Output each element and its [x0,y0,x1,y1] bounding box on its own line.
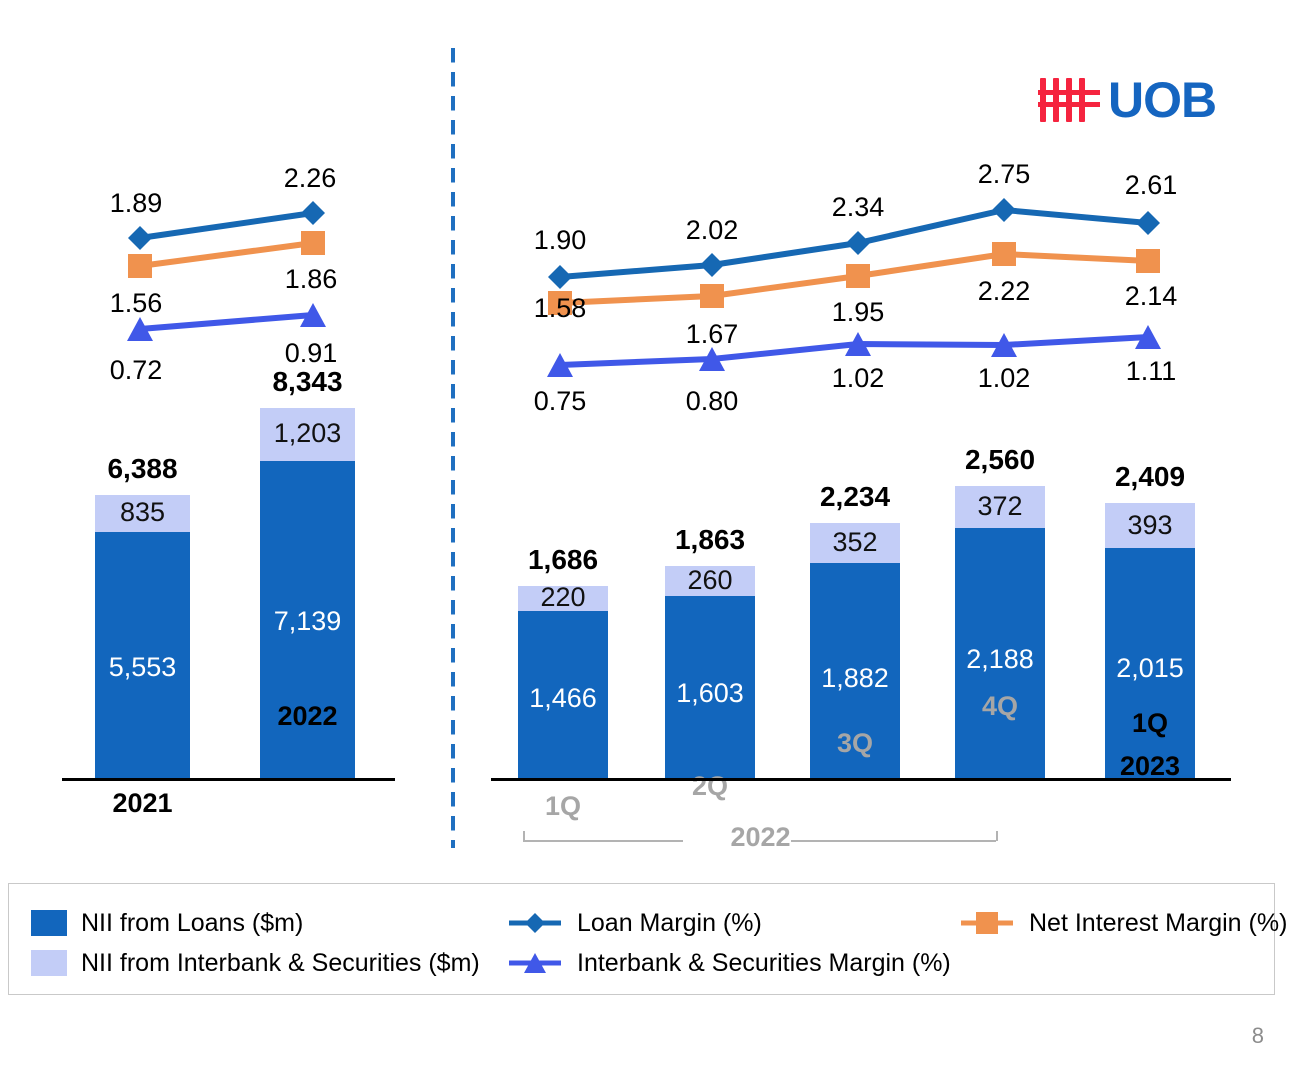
legend-item-nii-from-loans[interactable]: NII from Loans ($m) [31,906,303,940]
bar-segment-loans: 2,188 [955,528,1045,778]
quarterly-loan-margin-marker [1136,211,1160,235]
segment-value-label: 2,188 [966,644,1034,675]
annual-nim-label: 1.86 [285,264,338,295]
quarterly-x-axis [491,778,1231,781]
quarterly-nim-label: 1.58 [534,293,587,324]
annual-interbank-margin-label: 0.72 [110,355,163,386]
bar-segment-loans: 2,015 [1105,548,1195,778]
bar-segment-interbank: 352 [810,523,900,563]
legend-item-loan-margin[interactable]: Loan Margin (%) [507,906,762,940]
bar-total-label: 6,388 [107,453,177,485]
page-number: 8 [1252,1023,1264,1049]
year-bracket-2022: 2022 [523,822,998,856]
segment-value-label: 260 [687,565,732,596]
legend-marker-loan-margin-icon [507,910,563,936]
segment-value-label: 393 [1127,510,1172,541]
annual-loan-margin-label: 1.89 [110,188,163,219]
quarterly-interbank-margin-label: 1.11 [1126,356,1177,387]
quarterly-nim-marker [700,284,724,308]
bar-total-label: 2,560 [965,444,1035,476]
annual-chart-panel: 1.89 2.26 1.56 1.86 0.72 0.91 6,388 835 … [0,0,450,870]
annual-nim-marker [128,254,152,278]
legend-item-net-interest-margin[interactable]: Net Interest Margin (%) [959,906,1287,940]
quarterly-interbank-margin-label: 1.02 [978,363,1031,394]
bar-2q-2022[interactable]: 1,863 260 1,603 2Q [665,566,755,778]
legend-label: Loan Margin (%) [577,909,762,938]
chart-legend: NII from Loans ($m) NII from Interbank &… [8,883,1275,995]
segment-value-label: 1,603 [676,678,744,709]
annual-nim-marker [301,231,325,255]
quarterly-interbank-margin-label: 0.75 [534,386,587,417]
quarterly-loan-margin-marker [992,198,1016,222]
legend-marker-interbank-margin-icon [507,950,563,976]
legend-marker-nim-icon [959,910,1015,936]
segment-value-label: 1,466 [529,683,597,714]
quarterly-loan-margin-label: 2.75 [978,159,1031,190]
bar-segment-interbank: 1,203 [260,408,355,461]
quarterly-nim-marker [992,242,1016,266]
bar-segment-interbank: 260 [665,566,755,596]
quarterly-loan-margin-label: 1.90 [534,225,587,256]
annual-nim-line [140,243,313,266]
segment-value-label: 5,553 [109,652,177,683]
x-axis-label-3q: 3Q [837,728,873,759]
quarterly-interbank-margin-label: 0.80 [686,386,739,417]
quarterly-nim-marker [846,264,870,288]
x-axis-label-2q: 2Q [692,771,728,802]
segment-value-label: 2,015 [1116,653,1184,684]
quarterly-nim-label: 2.14 [1125,281,1178,312]
annual-loan-margin-marker [301,201,325,225]
annual-loan-margin-marker [128,226,152,250]
legend-swatch-nii-loans [31,910,67,936]
year-bracket-label: 2022 [730,822,790,853]
legend-column-lines: Loan Margin (%) Interbank & Securities M… [479,884,949,994]
annual-nim-label: 1.56 [110,288,163,319]
legend-column-nim: Net Interest Margin (%) [949,884,1274,994]
legend-swatch-nii-interbank [31,950,67,976]
bar-2022[interactable]: 8,343 1,203 7,139 2022 [260,408,355,778]
bar-segment-interbank: 372 [955,486,1045,528]
legend-label: Interbank & Securities Margin (%) [577,949,951,978]
quarterly-chart-panel: 1.90 2.02 2.34 2.75 2.61 1.58 1.67 1.95 … [451,0,1300,870]
bar-1q-2023[interactable]: 2,409 393 2,015 1Q 2023 [1105,503,1195,778]
annual-loan-margin-label: 2.26 [284,163,337,194]
quarterly-loan-margin-marker [700,253,724,277]
annual-interbank-margin-line [140,315,313,329]
segment-value-label: 1,203 [274,418,342,449]
bar-2021[interactable]: 6,388 835 5,553 2021 [95,495,190,778]
annual-interbank-margin-label: 0.91 [285,338,338,369]
bar-segment-interbank: 835 [95,495,190,532]
annual-x-axis [62,778,395,781]
segment-value-label: 1,882 [821,663,889,694]
quarterly-loan-margin-label: 2.61 [1125,170,1178,201]
x-axis-label-4q: 4Q [982,691,1018,722]
bar-total-label: 2,234 [820,481,890,513]
segment-value-label: 220 [540,582,585,613]
bar-segment-interbank: 220 [518,586,608,611]
legend-item-interbank-securities-margin[interactable]: Interbank & Securities Margin (%) [507,946,951,980]
quarterly-loan-margin-marker [846,231,870,255]
slide-root: UOB 1.89 2.26 1.56 1.86 0.72 0.91 6, [0,0,1300,1073]
x-axis-label-1q-2023: 1Q [1132,708,1168,739]
annual-margin-lines [0,0,450,870]
segment-value-label: 835 [120,497,165,528]
bar-total-label: 1,863 [675,524,745,556]
bar-segment-loans: 1,603 [665,596,755,778]
x-axis-label-1q: 1Q [545,791,581,822]
bar-segment-interbank: 393 [1105,503,1195,548]
quarterly-loan-margin-label: 2.34 [832,192,885,223]
quarterly-nim-label: 1.95 [832,297,885,328]
legend-label: Net Interest Margin (%) [1029,909,1287,938]
quarterly-loan-margin-marker [548,265,572,289]
quarterly-nim-label: 1.67 [686,319,739,350]
bar-3q-2022[interactable]: 2,234 352 1,882 3Q [810,523,900,778]
bar-segment-loans: 5,553 [95,532,190,778]
bar-total-label: 1,686 [528,544,598,576]
quarterly-loan-margin-label: 2.02 [686,215,739,246]
legend-label: NII from Interbank & Securities ($m) [81,949,480,978]
bar-1q-2022[interactable]: 1,686 220 1,466 1Q [518,586,608,778]
x-axis-label-2021: 2021 [112,788,172,819]
bar-segment-loans: 1,466 [518,611,608,778]
legend-item-nii-from-interbank-securities[interactable]: NII from Interbank & Securities ($m) [31,946,480,980]
segment-value-label: 372 [977,491,1022,522]
bar-4q-2022[interactable]: 2,560 372 2,188 4Q [955,486,1045,778]
annual-loan-margin-line [140,213,313,238]
x-axis-label-2022: 2022 [277,701,337,732]
legend-label: NII from Loans ($m) [81,909,303,938]
legend-column-bars: NII from Loans ($m) NII from Interbank &… [9,884,479,994]
segment-value-label: 7,139 [274,606,342,637]
quarterly-nim-label: 2.22 [978,276,1031,307]
segment-value-label: 352 [832,527,877,558]
quarterly-nim-marker [1136,249,1160,273]
quarterly-interbank-margin-label: 1.02 [832,363,885,394]
bar-total-label: 8,343 [272,366,342,398]
bar-total-label: 2,409 [1115,461,1185,493]
